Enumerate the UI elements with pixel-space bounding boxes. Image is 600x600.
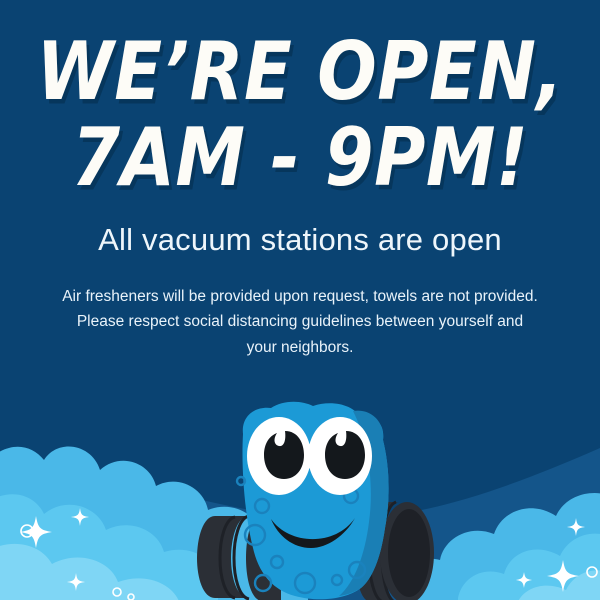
right-tire-hub: [388, 509, 430, 597]
pore-icon: [237, 477, 245, 485]
headline-line-2: 7AM - 9PM!: [0, 97, 600, 196]
body-line-3: your neighbors.: [0, 335, 600, 360]
body-line-2: Please respect social distancing guideli…: [0, 309, 600, 334]
sponge-car-mascot: [185, 398, 435, 600]
body-line-1: Air fresheners will be provided upon req…: [0, 284, 600, 309]
text-block: WE’RE OPEN, 7AM - 9PM! All vacuum statio…: [0, 0, 600, 360]
headline-line-1: WE’RE OPEN,: [0, 0, 600, 111]
body-copy: Air fresheners will be provided upon req…: [0, 258, 600, 359]
poster-canvas: WE’RE OPEN, 7AM - 9PM! All vacuum statio…: [0, 0, 600, 600]
